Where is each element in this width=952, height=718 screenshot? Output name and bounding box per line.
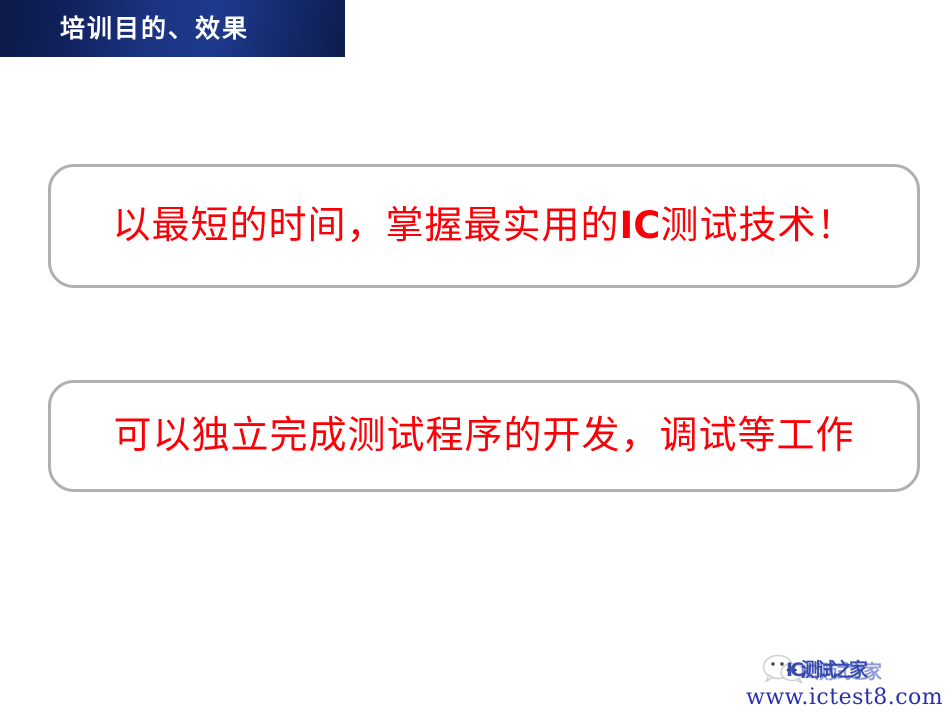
watermark-brand: IC测试之家 (786, 655, 865, 682)
callout-box-2: 可以独立完成测试程序的开发，调试等工作 (48, 380, 920, 492)
callout-text-1: 以最短的时间，掌握最实用的IC测试技术！ (113, 205, 856, 247)
title-banner: 培训目的、效果 (0, 0, 345, 57)
callout-1-text-before: 以最短的时间，掌握最实用的 (113, 203, 620, 247)
callout-1-emphasis: IC (620, 204, 661, 247)
watermark-url: www.ictest8.com (746, 685, 943, 710)
watermark: IC测试之家 IC测试之家 www.ictest8.com (748, 652, 952, 718)
callout-1-text-after: 测试技术！ (660, 203, 855, 247)
slide-canvas: 培训目的、效果 以最短的时间，掌握最实用的IC测试技术！ 可以独立完成测试程序的… (0, 0, 952, 718)
callout-box-1: 以最短的时间，掌握最实用的IC测试技术！ (48, 164, 920, 288)
callout-2-text-before: 可以独立完成测试程序的开发，调试等工作 (113, 413, 854, 457)
callout-text-2: 可以独立完成测试程序的开发，调试等工作 (113, 415, 854, 457)
page-title: 培训目的、效果 (60, 16, 249, 41)
